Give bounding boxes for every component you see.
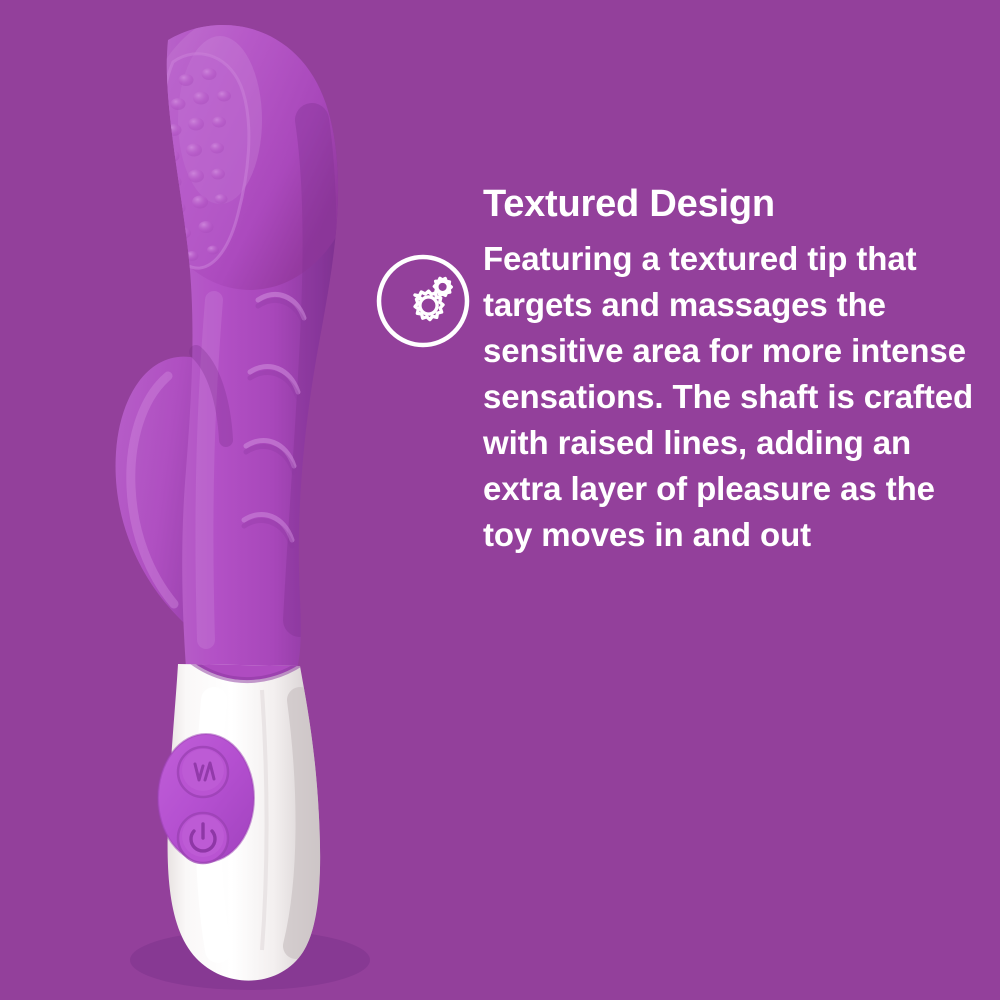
control-pad: [158, 734, 254, 863]
gears-in-circle-icon: [375, 253, 471, 349]
product-feature-card: Textured Design Featuring a textured tip…: [0, 0, 1000, 1000]
product-image: [0, 0, 420, 1000]
feature-body-text: Featuring a textured tip that targets an…: [483, 236, 979, 558]
mode-button[interactable]: [178, 747, 228, 797]
feature-heading: Textured Design: [483, 182, 775, 226]
power-button[interactable]: [178, 813, 228, 863]
